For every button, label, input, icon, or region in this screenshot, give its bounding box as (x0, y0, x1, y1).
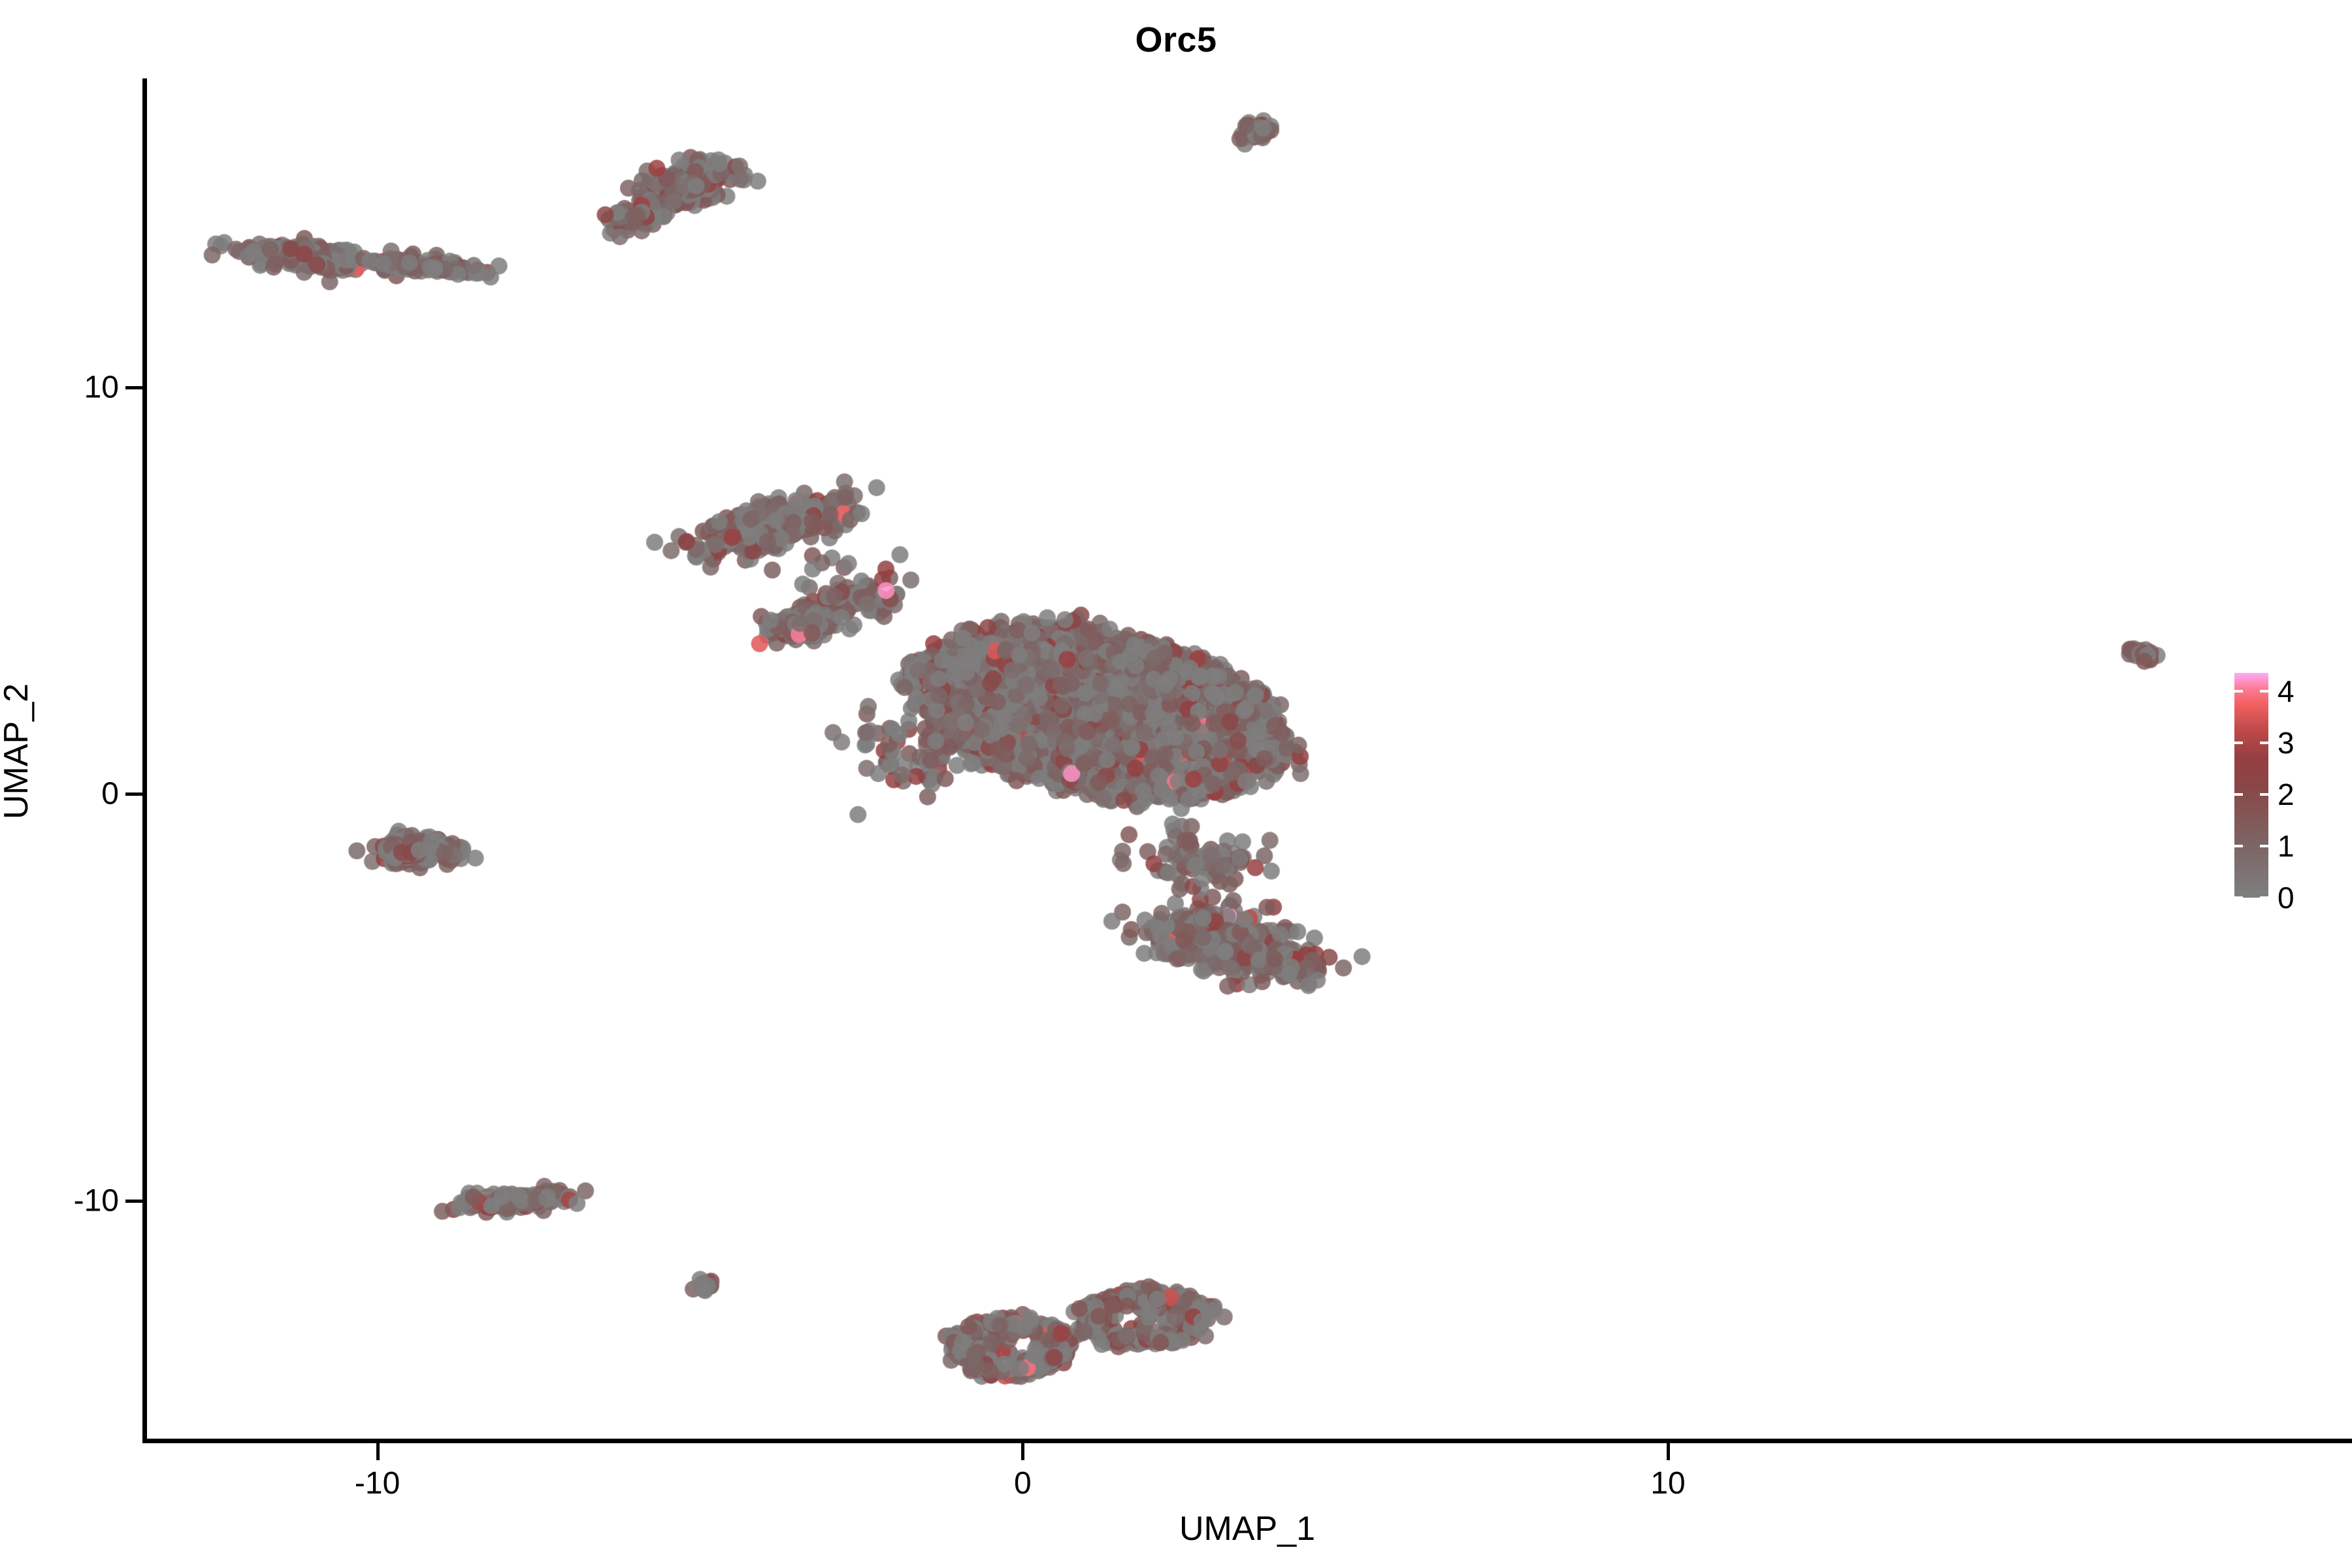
umap-feature-plot: Orc5 -10010-10010 UMAP_1 UMAP_2 01234 (0, 0, 2352, 1568)
x-tick-mark (1667, 1443, 1670, 1460)
color-legend: 01234 (2234, 673, 2339, 898)
x-axis-line (142, 1439, 2352, 1443)
page-title: Orc5 (0, 20, 2352, 60)
y-axis-line (142, 78, 147, 1443)
x-tick-mark (376, 1443, 380, 1460)
x-tick-label: 10 (1650, 1465, 1685, 1501)
legend-tick-label: 4 (2278, 674, 2295, 709)
x-axis-title: UMAP_1 (142, 1509, 2352, 1548)
y-tick-label: -10 (74, 1183, 119, 1218)
y-tick-mark (125, 1200, 142, 1203)
legend-tick-label: 0 (2278, 880, 2295, 915)
y-tick-label: 10 (84, 370, 119, 406)
x-tick-mark (1021, 1443, 1024, 1460)
legend-tick-label: 3 (2278, 725, 2295, 760)
x-tick-label: 0 (1014, 1465, 1032, 1501)
legend-colorbar (2234, 673, 2268, 898)
scatter-plot-canvas (145, 78, 2352, 1441)
x-tick-label: -10 (355, 1465, 400, 1501)
y-axis-title: UMAP_2 (0, 621, 36, 882)
legend-tick-label: 1 (2278, 828, 2295, 864)
y-tick-label: 0 (101, 776, 119, 812)
y-tick-mark (125, 386, 142, 389)
y-tick-mark (125, 792, 142, 796)
legend-tick-label: 2 (2278, 777, 2295, 812)
